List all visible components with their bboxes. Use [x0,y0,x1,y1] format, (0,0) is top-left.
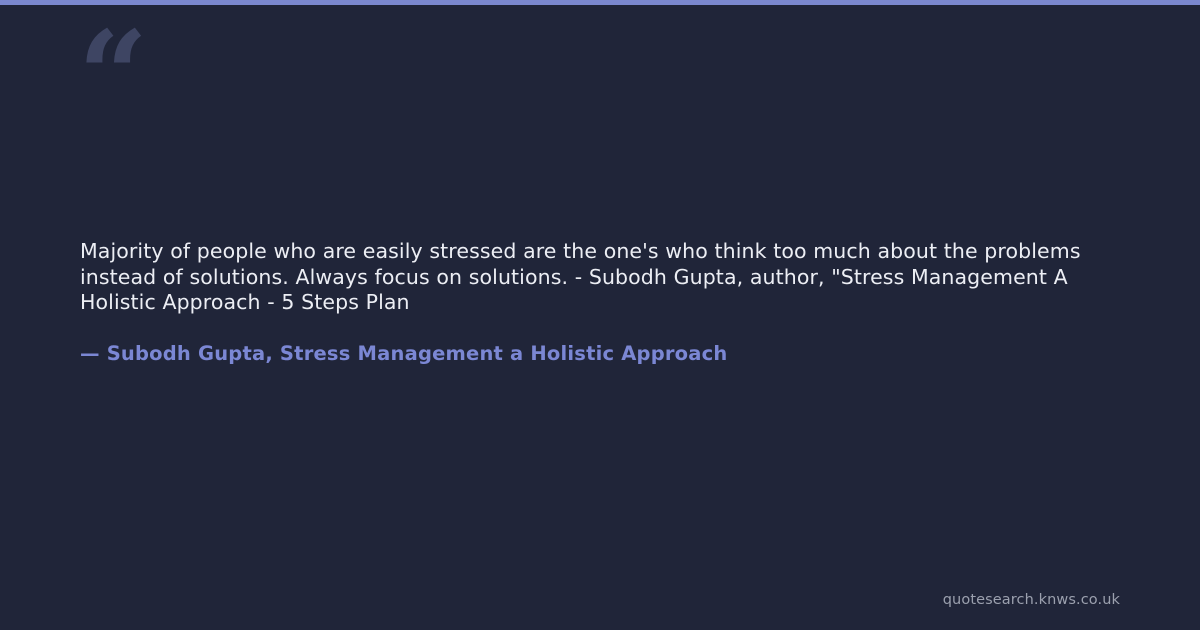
quote-card: “ Majority of people who are easily stre… [0,0,1200,630]
quotation-mark-icon: “ [78,14,146,136]
source-url: quotesearch.knws.co.uk [943,590,1120,610]
quote-attribution: — Subodh Gupta, Stress Management a Holi… [80,341,727,367]
quote-text: Majority of people who are easily stress… [80,239,1104,316]
top-accent-bar [0,0,1200,5]
